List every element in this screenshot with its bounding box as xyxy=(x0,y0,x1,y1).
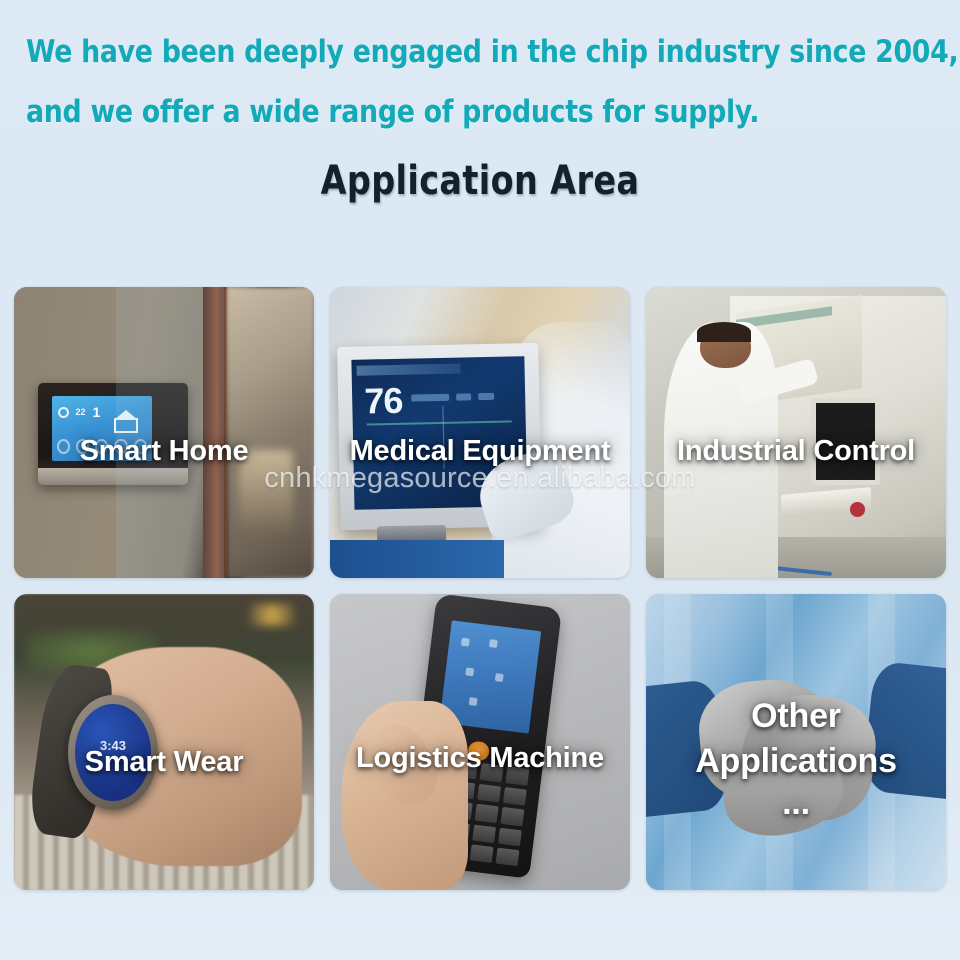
blue-drape xyxy=(330,540,504,578)
screen-icon-1 xyxy=(461,638,470,647)
vital-number: 76 xyxy=(364,384,403,419)
waveform-line xyxy=(367,421,512,426)
card-label-smart-home: Smart Home xyxy=(14,435,314,468)
panel-value: 1 xyxy=(93,407,101,418)
headline-line-2: and we offer a wide range of products fo… xyxy=(26,82,898,142)
emergency-stop-button xyxy=(850,502,865,517)
application-card-grid: 22 1 S xyxy=(14,287,946,890)
other-label-line-2: Applications xyxy=(695,742,897,780)
technician-hair xyxy=(697,322,751,342)
key xyxy=(475,804,499,823)
background-room xyxy=(227,287,314,578)
smart-wear-scene: 3:43 xyxy=(14,594,314,890)
light-tint-overlay xyxy=(116,287,224,578)
card-label-industrial-control: Industrial Control xyxy=(646,435,946,468)
card-industrial-control[interactable]: Industrial Control xyxy=(646,287,946,578)
key xyxy=(470,844,494,863)
card-medical-equipment[interactable]: 76 Medical Equipment xyxy=(330,287,630,578)
headline-line-1: We have been deeply engaged in the chip … xyxy=(26,22,898,82)
key xyxy=(501,807,525,826)
section-title: Application Area xyxy=(34,158,927,204)
key xyxy=(477,784,501,803)
medical-scene: 76 xyxy=(330,287,630,578)
card-label-logistics-machine: Logistics Machine xyxy=(330,742,630,775)
monitor-top-bar xyxy=(357,364,461,377)
card-smart-home[interactable]: 22 1 S xyxy=(14,287,314,578)
monitor-chip-1 xyxy=(411,394,449,402)
monitor-chip-2 xyxy=(456,393,472,400)
screen-icon-2 xyxy=(488,639,497,648)
card-label-other-applications: Other Applications ... xyxy=(646,694,946,822)
temperature-value: 22 xyxy=(76,407,86,417)
key xyxy=(503,787,527,806)
headline-block: We have been deeply engaged in the chip … xyxy=(0,0,960,142)
card-other-applications[interactable]: Other Applications ... xyxy=(646,594,946,890)
card-smart-wear[interactable]: 3:43 Smart Wear xyxy=(14,594,314,890)
sun-icon xyxy=(58,407,69,418)
light-bokeh xyxy=(248,603,296,627)
other-label-line-1: Other xyxy=(751,697,841,735)
monitor-chip-3 xyxy=(478,393,494,400)
other-label-dots: ... xyxy=(646,784,946,822)
key xyxy=(472,824,496,843)
screen-icon-3 xyxy=(465,667,474,676)
card-logistics-machine[interactable]: Logistics Machine xyxy=(330,594,630,890)
screen-icon-5 xyxy=(469,697,478,706)
key xyxy=(496,848,520,867)
card-label-smart-wear: Smart Wear xyxy=(14,746,314,779)
application-area-banner: We have been deeply engaged in the chip … xyxy=(0,0,960,960)
industrial-scene xyxy=(646,287,946,578)
key xyxy=(498,827,522,846)
screen-icon-4 xyxy=(495,673,504,682)
weather-row: 22 1 xyxy=(58,407,101,418)
smart-home-scene: 22 1 xyxy=(14,287,314,578)
card-label-medical-equipment: Medical Equipment xyxy=(330,435,630,468)
